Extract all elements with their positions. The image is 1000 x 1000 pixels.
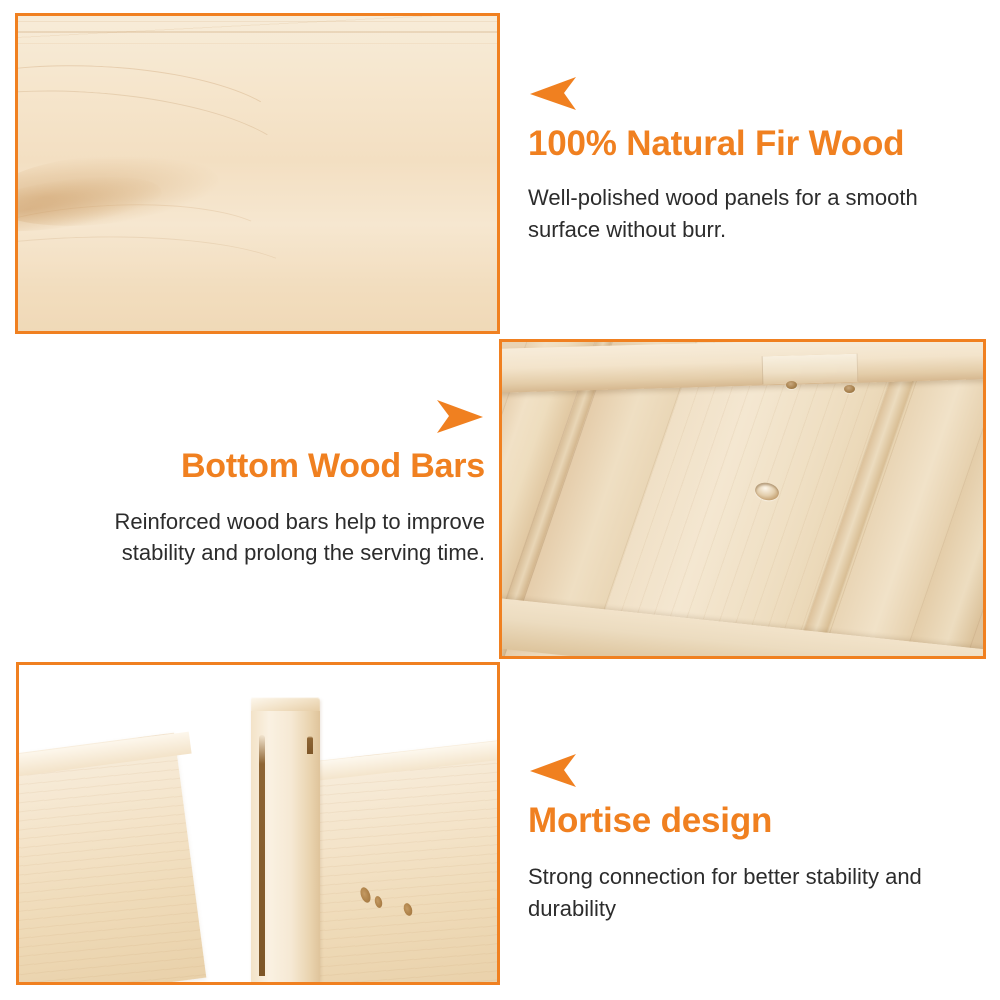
panel-bottom-bars (499, 339, 986, 659)
panel-mortise (16, 662, 500, 985)
panel-wood-grain (15, 13, 500, 334)
arrow-left-icon (528, 75, 580, 111)
feature-description: Strong connection for better stability a… (528, 861, 980, 923)
arrow-right-icon (433, 398, 485, 434)
wood-grain-image (18, 16, 497, 331)
feature-description: Reinforced wood bars help to improve sta… (60, 506, 485, 568)
feature-title: 100% Natural Fir Wood (528, 123, 980, 164)
feature-description: Well-polished wood panels for a smooth s… (528, 182, 980, 244)
infographic-canvas: 100% Natural Fir Wood Well-polished wood… (0, 0, 1000, 1000)
arrow-left-icon (528, 752, 580, 788)
mortise-slot (259, 735, 265, 976)
bottom-bars-image (502, 342, 983, 656)
feature-bottom-bars: Bottom Wood Bars Reinforced wood bars he… (60, 398, 485, 569)
screw-icon (844, 385, 855, 393)
mortise-joint-image (19, 665, 497, 982)
mortise-slot (307, 736, 313, 753)
feature-mortise: Mortise design Strong connection for bet… (528, 752, 980, 924)
feature-title: Mortise design (528, 800, 980, 841)
post-top-cap (251, 697, 320, 710)
rail-cap (761, 353, 858, 384)
feature-natural-fir: 100% Natural Fir Wood Well-polished wood… (528, 75, 980, 245)
feature-title: Bottom Wood Bars (60, 446, 485, 486)
